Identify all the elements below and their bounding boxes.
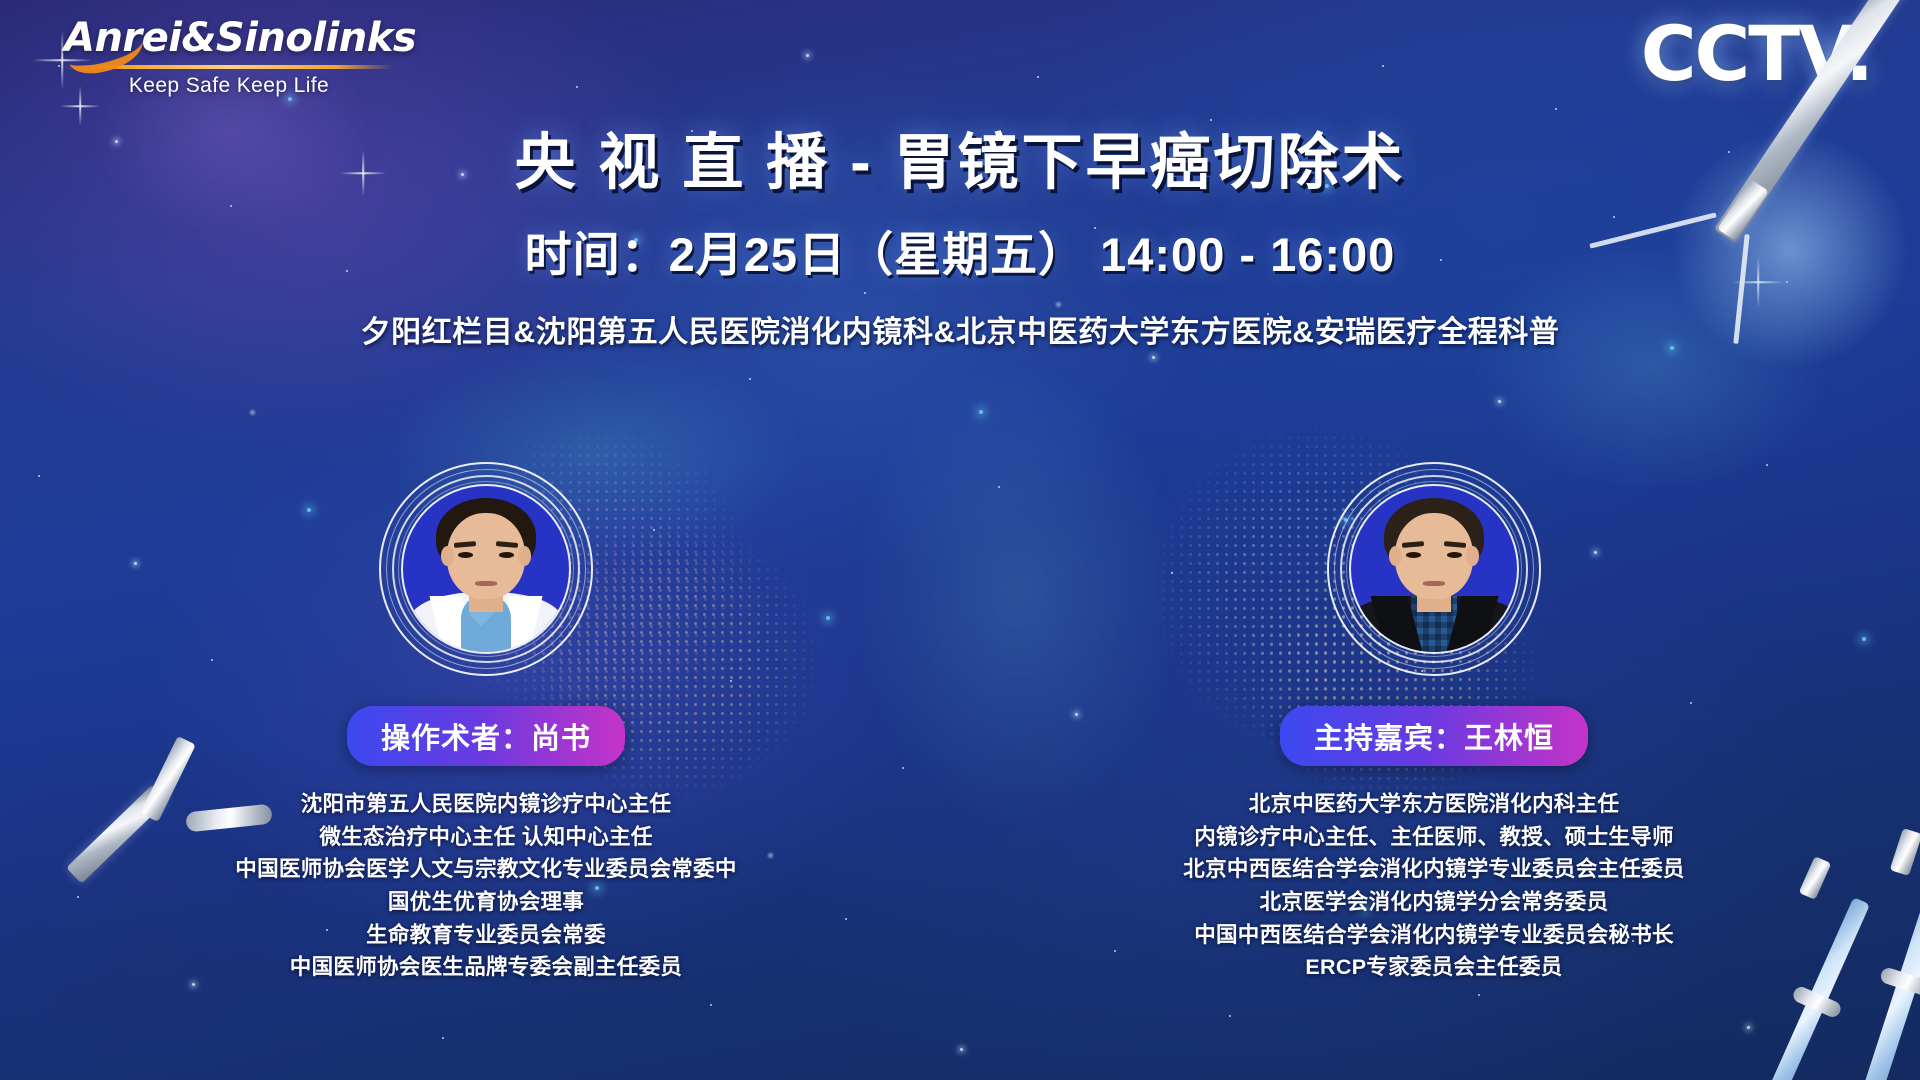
poster-canvas: Anrei&Sinolinks Keep Safe Keep Life CCTV… <box>0 0 1920 1080</box>
speaker-bio: 北京中医药大学东方医院消化内科主任 内镜诊疗中心主任、主任医师、教授、硕士生导师… <box>1154 788 1714 984</box>
bio-line: 北京中西医结合学会消化内镜学专业委员会主任委员 <box>1154 853 1714 886</box>
bio-line: 沈阳市第五人民医院内镜诊疗中心主任 <box>206 788 766 821</box>
speaker-bio: 沈阳市第五人民医院内镜诊疗中心主任 微生态治疗中心主任 认知中心主任 中国医师协… <box>206 788 766 984</box>
partners-line: 夕阳红栏目&沈阳第五人民医院消化内镜科&北京中医药大学东方医院&安瑞医疗全程科普 <box>0 307 1920 351</box>
speaker-photo <box>1351 486 1517 652</box>
event-time: 时间：2月25日（星期五） 14:00 - 16:00 <box>0 216 1920 285</box>
bio-line: 国优生优育协会理事 <box>206 886 766 919</box>
bio-line: 生命教育专业委员会常委 <box>206 919 766 952</box>
bio-line: 北京中医药大学东方医院消化内科主任 <box>1154 788 1714 821</box>
avatar <box>1327 462 1541 676</box>
speaker-card-operator: 操作术者：尚书 沈阳市第五人民医院内镜诊疗中心主任 微生态治疗中心主任 认知中心… <box>206 462 766 984</box>
bio-line: 中国医师协会医生品牌专委会副主任委员 <box>206 951 766 984</box>
speaker-card-host: 主持嘉宾：王林恒 北京中医药大学东方医院消化内科主任 内镜诊疗中心主任、主任医师… <box>1154 462 1714 984</box>
speakers-section: 操作术者：尚书 沈阳市第五人民医院内镜诊疗中心主任 微生态治疗中心主任 认知中心… <box>0 462 1920 984</box>
bio-line: 微生态治疗中心主任 认知中心主任 <box>206 821 766 854</box>
bio-line: 北京医学会消化内镜学分会常务委员 <box>1154 886 1714 919</box>
brand-tagline: Keep Safe Keep Life <box>64 74 394 98</box>
page-title: 央 视 直 播 - 胃镜下早癌切除术 <box>0 128 1920 196</box>
speaker-role-badge: 主持嘉宾：王林恒 <box>1280 706 1588 766</box>
bio-line: 中国中西医结合学会消化内镜学专业委员会秘书长 <box>1154 919 1714 952</box>
bio-line: 内镜诊疗中心主任、主任医师、教授、硕士生导师 <box>1154 821 1714 854</box>
bio-line: ERCP专家委员会主任委员 <box>1154 951 1714 984</box>
avatar <box>379 462 593 676</box>
speaker-photo <box>403 486 569 652</box>
speaker-role-badge: 操作术者：尚书 <box>347 706 625 766</box>
bio-line: 中国医师协会医学人文与宗教文化专业委员会常委中 <box>206 853 766 886</box>
cctv-logo: CCTV. <box>1641 16 1872 92</box>
brand-logo: Anrei&Sinolinks Keep Safe Keep Life <box>64 18 394 98</box>
headline-block: 央 视 直 播 - 胃镜下早癌切除术 时间：2月25日（星期五） 14:00 -… <box>0 128 1920 351</box>
